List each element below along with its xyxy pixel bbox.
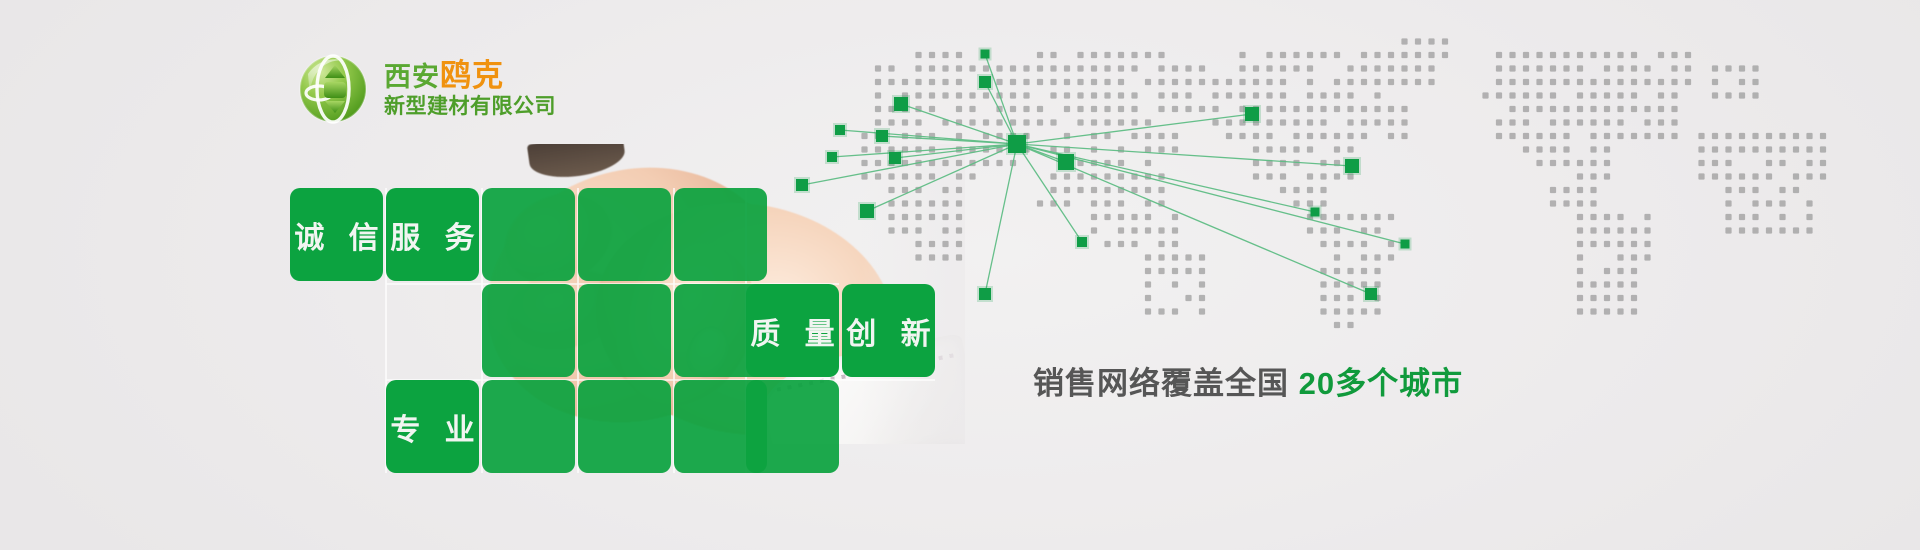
sales-network-tagline: 销售网络覆盖全国 20多个城市 [1033, 358, 1463, 403]
logo-brand-text: 鸥克 [440, 58, 504, 93]
tile-1-labeled[interactable]: 服 务 [386, 188, 479, 281]
logo-line-primary: 西安鸥克 [384, 59, 556, 94]
tile-14-blank[interactable] [746, 380, 839, 473]
tile-10-labeled[interactable]: 专 业 [386, 380, 479, 473]
logo-wordmark: 西安鸥克 新型建材有限公司 [384, 59, 556, 120]
tile-5-blank[interactable] [482, 284, 575, 377]
tile-6-blank[interactable] [578, 284, 671, 377]
company-globe-leaf-logo-icon [296, 52, 370, 126]
company-logo[interactable]: 西安鸥克 新型建材有限公司 [296, 45, 536, 133]
tile-0-labeled[interactable]: 诚 信 [290, 188, 383, 281]
map-dot-layer [861, 38, 1826, 328]
tagline-highlight: 20多个城市 [1299, 366, 1463, 401]
banner-stage: 西安鸥克 新型建材有限公司 [0, 0, 1920, 550]
tile-3-blank[interactable] [578, 188, 671, 281]
tile-label: 诚 信 [286, 213, 386, 257]
tagline-prefix: 销售网络覆盖全国 [1033, 366, 1289, 401]
tile-label: 专 业 [382, 405, 482, 449]
tile-2-blank[interactable] [482, 188, 575, 281]
tile-label: 服 务 [382, 213, 482, 257]
map-marker-layer [794, 48, 1412, 303]
tile-11-blank[interactable] [482, 380, 575, 473]
world-dot-map [735, 18, 1915, 338]
logo-city-text: 西安 [384, 62, 440, 92]
logo-line-secondary: 新型建材有限公司 [384, 95, 556, 119]
tile-12-blank[interactable] [578, 380, 671, 473]
